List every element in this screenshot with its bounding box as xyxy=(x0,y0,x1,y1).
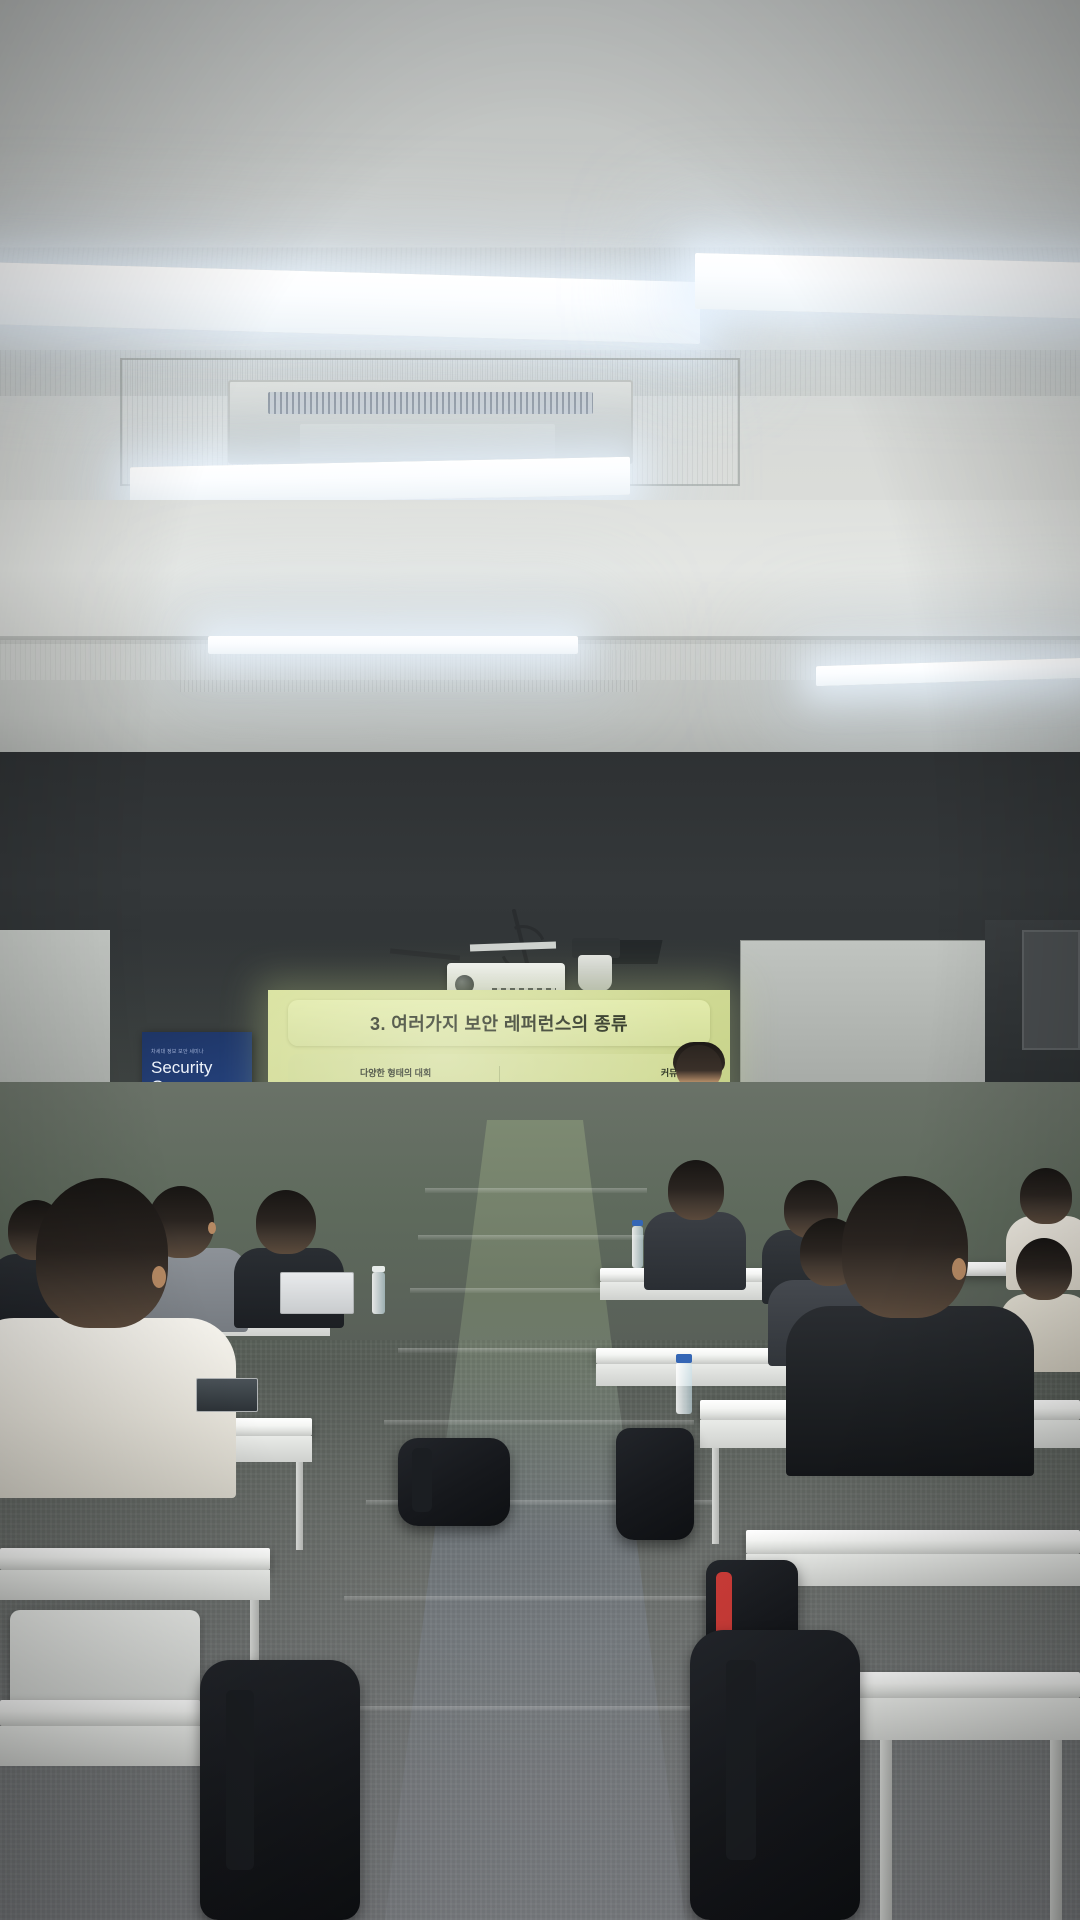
banner-subtitle-top: 차세대 정보 보안 세미나 xyxy=(151,1048,204,1055)
aisle-step-2 xyxy=(418,1235,656,1240)
desk-row2-left xyxy=(0,1548,270,1570)
ac-vent-inner-panel xyxy=(300,424,555,458)
wall-panel-right xyxy=(740,940,1000,1090)
desk-row2-left-front xyxy=(0,1570,270,1600)
water-bottle-4-cap xyxy=(372,1266,385,1272)
attendee-head xyxy=(36,1178,168,1328)
backpack-mid-right xyxy=(616,1428,694,1540)
attendee-head xyxy=(668,1160,724,1220)
aisle-step-1 xyxy=(425,1188,647,1193)
water-bottle-5 xyxy=(676,1362,692,1414)
attendee-torso xyxy=(786,1306,1034,1476)
slide-item-01-heading: 다양한 형태의 대회 xyxy=(360,1066,489,1079)
laptop-1 xyxy=(280,1272,354,1314)
desk-row1-left-front xyxy=(0,1726,200,1766)
ac-vent-grille xyxy=(268,392,593,414)
attendee-torso xyxy=(644,1212,746,1290)
water-bottle-5-cap xyxy=(676,1354,692,1363)
water-bottle-1-cap xyxy=(632,1220,643,1226)
attendee-ear xyxy=(152,1266,166,1288)
attendee-head xyxy=(1020,1168,1072,1224)
attendee-r5-1 xyxy=(640,1160,750,1280)
attendee-r3-foreground xyxy=(786,1176,1026,1416)
desk-row1-right-leg xyxy=(880,1740,892,1920)
desk-row3-left-leg xyxy=(296,1462,303,1550)
ceiling-light-4 xyxy=(208,636,578,654)
backpack-foreground-left-strap xyxy=(226,1690,254,1870)
desk-row2-right xyxy=(746,1530,1080,1554)
wall-panel-left xyxy=(0,930,110,1082)
desk-row3-right-leg xyxy=(712,1448,719,1544)
lecture-hall-photo: 차세대 정보 보안 세미나 Security One Forum 정보보안 최신… xyxy=(0,0,1080,1920)
backpack-foreground-right-strap xyxy=(726,1660,756,1860)
notebook-1 xyxy=(196,1378,258,1412)
desk-row1-right-leg-2 xyxy=(1050,1740,1062,1920)
ceiling-light-2 xyxy=(695,253,1080,319)
ceiling-soffit xyxy=(0,500,1080,640)
ceiling xyxy=(0,0,1080,760)
backpack-floor-center-strap xyxy=(412,1448,432,1512)
slide-title-card: 3. 여러가지 보안 레퍼런스의 종류 xyxy=(288,1000,710,1046)
attendee-head xyxy=(256,1190,316,1254)
water-bottle-1 xyxy=(632,1226,643,1268)
banner-title-line-1: Security xyxy=(151,1058,212,1077)
wall-frame-right xyxy=(1022,930,1080,1050)
slide-title: 3. 여러가지 보안 레퍼런스의 종류 xyxy=(370,1010,628,1036)
attendee-ear xyxy=(952,1258,966,1280)
attendee-head xyxy=(842,1176,968,1318)
ceiling-upper-shadow xyxy=(0,0,1080,245)
backpack-foreground-right xyxy=(690,1630,860,1920)
desk-row1-left xyxy=(0,1700,200,1726)
backpack-foreground-left xyxy=(200,1660,360,1920)
ceiling-camera-dome-icon xyxy=(578,955,612,991)
water-bottle-4 xyxy=(372,1272,385,1314)
